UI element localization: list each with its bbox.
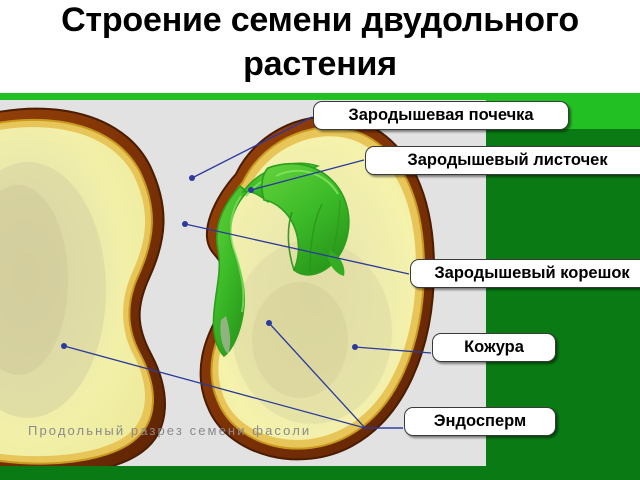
left-cotyledon bbox=[0, 109, 165, 466]
title-line-2: растения bbox=[0, 42, 640, 86]
title-line-1: Строение семени двудольного bbox=[0, 0, 640, 42]
page-title: Строение семени двудольного растения bbox=[0, 0, 640, 86]
label-embryonic-leaf[interactable]: Зародышевый листочек bbox=[365, 146, 640, 175]
illustration-caption: Продольный разрез семени фасоли bbox=[28, 423, 311, 438]
slide-root: Строение семени двудольного растения bbox=[0, 0, 640, 480]
label-endosperm[interactable]: Эндосперм bbox=[404, 407, 556, 436]
label-seed-coat[interactable]: Кожура bbox=[432, 333, 556, 362]
label-embryonic-bud[interactable]: Зародышевая почечка bbox=[313, 101, 569, 130]
label-embryonic-radicle[interactable]: Зародышевый корешок bbox=[410, 259, 640, 288]
